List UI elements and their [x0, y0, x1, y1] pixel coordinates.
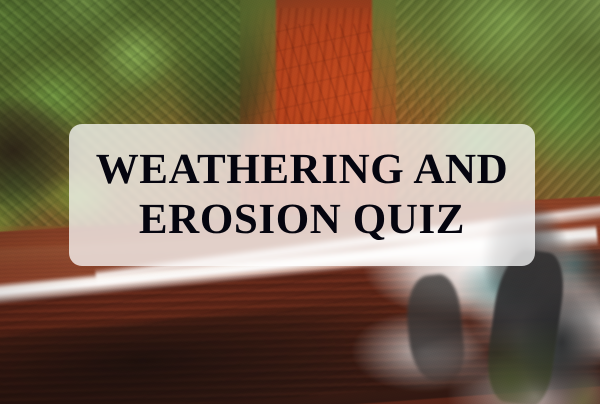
page-title-line-1: WEATHERING AND	[96, 145, 509, 195]
quiz-title-card: WEATHERING AND EROSION QUIZ	[0, 0, 600, 404]
title-overlay-panel: WEATHERING AND EROSION QUIZ	[69, 124, 535, 266]
page-title-line-2: EROSION QUIZ	[139, 195, 465, 245]
